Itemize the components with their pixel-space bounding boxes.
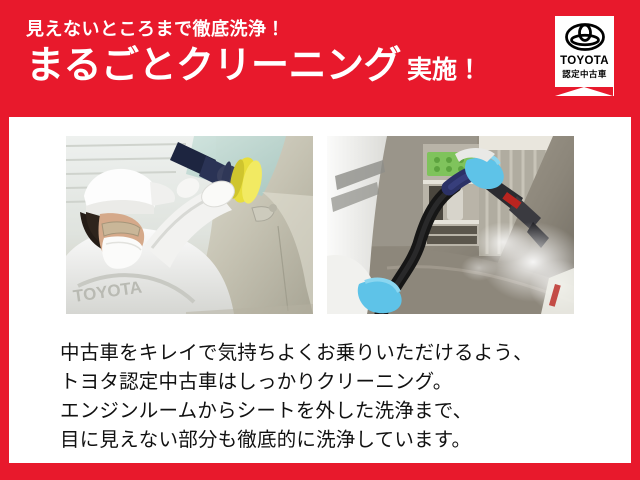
body-line-2: トヨタ認定中古車はしっかりクリーニング。: [60, 368, 600, 397]
kicker-text: 見えないところまで徹底洗浄！: [26, 20, 536, 38]
badge-notch-shape: [555, 87, 613, 96]
promo-banner: 見えないところまで徹底洗浄！ まるごとクリーニング 実施！ TOYOTA 認定中…: [0, 0, 640, 480]
photo-steam-cleaning: [327, 136, 574, 314]
toyota-certified-badge: TOYOTA 認定中古車: [555, 16, 614, 96]
headline-row: まるごとクリーニング 実施！: [26, 47, 536, 85]
banner-header: 見えないところまで徹底洗浄！ まるごとクリーニング 実施！ TOYOTA 認定中…: [0, 0, 640, 112]
body-copy: 中古車をキレイで気持ちよくお乗りいただけるよう、 トヨタ認定中古車はしっかりクリ…: [60, 339, 600, 455]
body-line-3: エンジンルームからシートを外した洗浄まで、: [60, 397, 600, 426]
headline-sub-text: 実施！: [407, 58, 482, 83]
badge-caption: 認定中古車: [555, 70, 614, 79]
body-line-4: 目に見えない部分も徹底的に洗浄しています。: [60, 426, 600, 455]
body-line-1: 中古車をキレイで気持ちよくお乗りいただけるよう、: [60, 339, 600, 368]
content-card: TOYOTA: [9, 117, 631, 463]
headline-main-text: まるごとクリーニング: [26, 47, 401, 85]
toyota-wordmark: TOYOTA: [555, 56, 614, 68]
photo-polishing: TOYOTA: [66, 136, 313, 314]
headline-block: 見えないところまで徹底洗浄！ まるごとクリーニング 実施！: [26, 20, 536, 85]
photo-row: TOYOTA: [66, 136, 574, 314]
toyota-emblem-icon: [565, 22, 605, 57]
